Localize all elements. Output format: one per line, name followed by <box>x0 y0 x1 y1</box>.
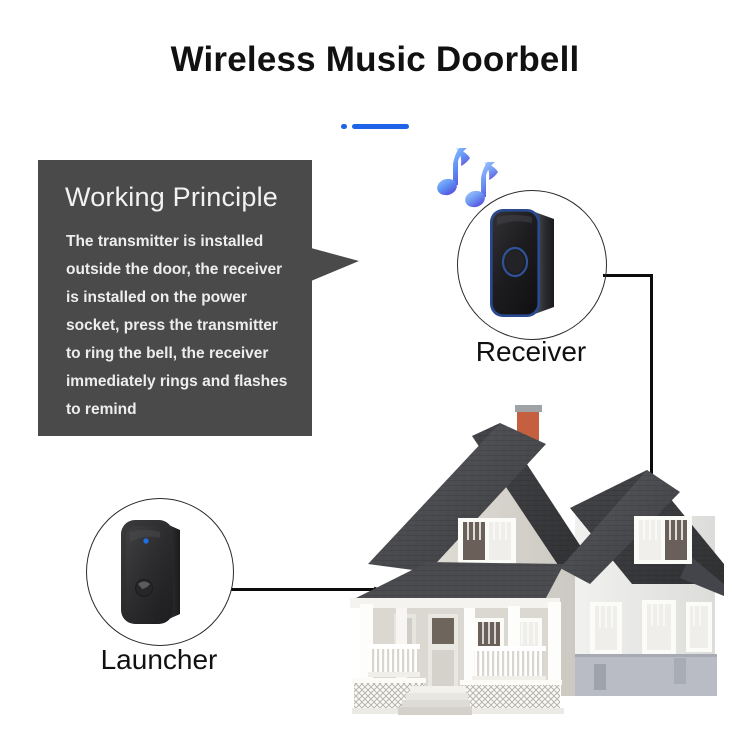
launcher-label: Launcher <box>86 644 232 676</box>
callout-heading: Working Principle <box>65 182 278 213</box>
house-photo <box>332 396 724 720</box>
wireless-signal-dot-icon <box>341 124 347 129</box>
receiver-leader-line-horizontal <box>603 274 653 277</box>
wireless-signal-dash-icon <box>352 124 409 129</box>
callout-tail-pointer <box>311 248 359 281</box>
working-principle-callout: Working Principle The transmitter is ins… <box>38 160 312 436</box>
receiver-device-icon <box>484 205 562 321</box>
page-title: Wireless Music Doorbell <box>0 40 750 80</box>
callout-body-text: The transmitter is installed outside the… <box>66 228 294 424</box>
infographic-canvas: Wireless Music Doorbell <box>0 0 750 750</box>
launcher-device-icon <box>118 518 190 626</box>
receiver-label: Receiver <box>457 336 605 368</box>
